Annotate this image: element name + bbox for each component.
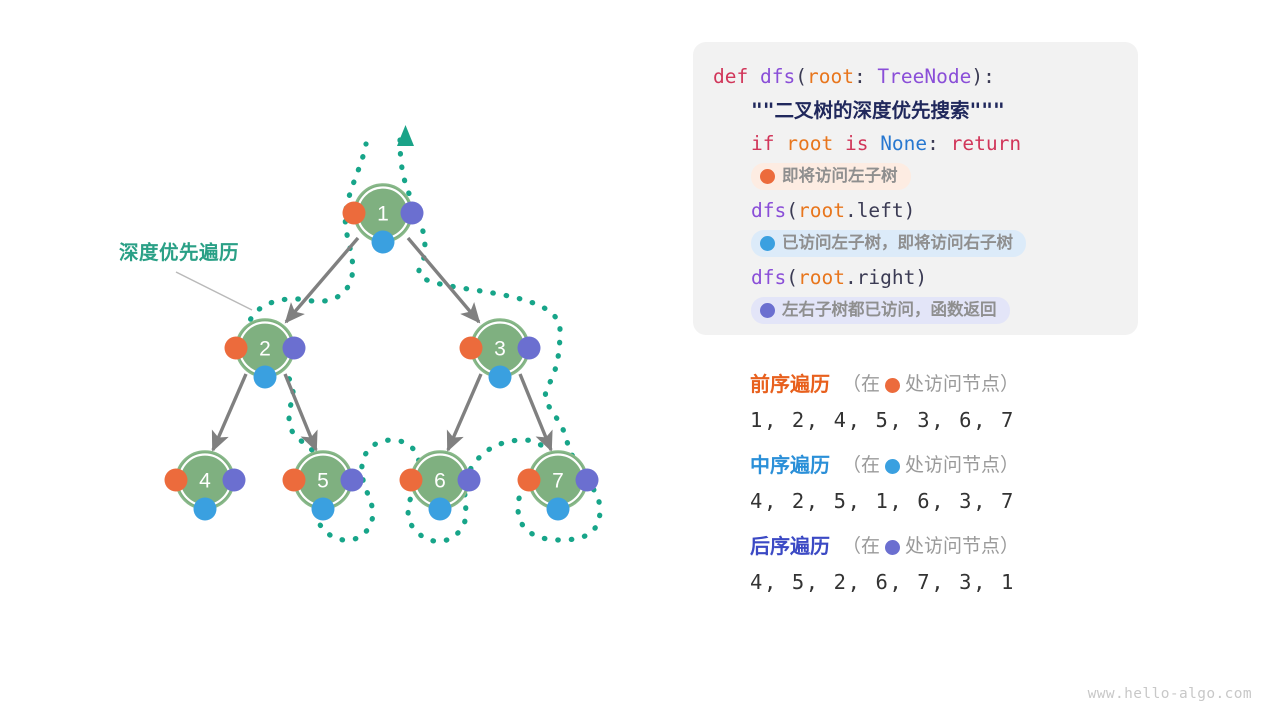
call-left-paren-open: ( xyxy=(786,199,798,222)
docstring-text: ""二叉树的深度优先搜索""" xyxy=(751,99,1005,122)
traversal-block-preorder: 前序遍历 （在 处访问节点） 1, 2, 4, 5, 3, 6, 7 xyxy=(750,368,1170,438)
keyword-def: def xyxy=(713,65,748,88)
code-block-panel: def dfs(root: TreeNode): ""二叉树的深度优先搜索"""… xyxy=(693,42,1138,335)
inorder-dot-icon xyxy=(547,498,570,521)
postorder-dot-icon xyxy=(458,469,481,492)
call-right-paren-close: ) xyxy=(915,266,927,289)
function-name: dfs xyxy=(760,65,795,88)
orange-dot-icon xyxy=(885,378,900,393)
call-right-fn: dfs xyxy=(751,266,786,289)
annotation-text: 左右子树都已访问，函数返回 xyxy=(782,299,997,321)
tree-node-layer: 1234567 xyxy=(165,184,599,521)
traversal-sequence: 4, 2, 5, 1, 6, 3, 7 xyxy=(750,483,1170,519)
traversal-name: 后序遍历 xyxy=(750,530,830,564)
note-prefix: （在 xyxy=(842,368,880,402)
traversal-name: 中序遍历 xyxy=(750,449,830,483)
code-line-annotation-in: 已访问左子树，即将访问右子树 xyxy=(713,228,1118,262)
binary-tree-svg: 1234567 xyxy=(0,0,660,720)
note-prefix: （在 xyxy=(842,449,880,483)
code-line-annotation-post: 左右子树都已访问，函数返回 xyxy=(713,295,1118,329)
code-line-annotation-pre: 即将访问左子树 xyxy=(713,161,1118,195)
traversal-heading: 后序遍历 （在 处访问节点） xyxy=(750,530,1170,564)
postorder-dot-icon xyxy=(576,469,599,492)
tree-diagram-panel: 1234567 深度优先遍历 xyxy=(0,0,660,720)
call-left-paren-close: ) xyxy=(904,199,916,222)
preorder-dot-icon xyxy=(400,469,423,492)
inorder-dot-icon xyxy=(312,498,335,521)
note-suffix: 处访问节点） xyxy=(905,530,1019,564)
traversal-note: （在 处访问节点） xyxy=(842,530,1019,564)
annotation-text: 已访问左子树，即将访问右子树 xyxy=(782,232,1013,254)
call-right-paren-open: ( xyxy=(786,266,798,289)
tree-node: 7 xyxy=(518,451,599,521)
annotation-pill-inorder: 已访问左子树，即将访问右子树 xyxy=(751,230,1026,257)
inorder-dot-icon xyxy=(429,498,452,521)
annotation-pill-preorder: 即将访问左子树 xyxy=(751,163,911,190)
note-prefix: （在 xyxy=(842,530,880,564)
inorder-dot-icon xyxy=(254,366,277,389)
tree-node: 6 xyxy=(400,451,481,521)
guard-var: root xyxy=(786,132,833,155)
up-triangle-icon xyxy=(397,125,414,146)
call-right-var: root xyxy=(798,266,845,289)
inorder-dot-icon xyxy=(372,231,395,254)
node-value: 5 xyxy=(317,470,329,493)
inorder-dot-icon xyxy=(489,366,512,389)
paren-close: ) xyxy=(971,65,983,88)
param-colon: : xyxy=(854,65,877,88)
preorder-dot-icon xyxy=(283,469,306,492)
type-treenode: TreeNode xyxy=(877,65,971,88)
call-right-attr: .right xyxy=(845,266,915,289)
orange-dot-icon xyxy=(760,169,775,184)
code-line-guard: if root is None: return xyxy=(713,127,1118,161)
postorder-dot-icon xyxy=(283,337,306,360)
keyword-if: if xyxy=(751,132,774,155)
postorder-dot-icon xyxy=(518,337,541,360)
watermark: www.hello-algo.com xyxy=(1088,686,1252,702)
postorder-dot-icon xyxy=(223,469,246,492)
code-line-docstring: ""二叉树的深度优先搜索""" xyxy=(713,94,1118,128)
traversal-note: （在 处访问节点） xyxy=(842,368,1019,402)
callout-leader-line xyxy=(176,272,252,310)
code-line-call-left: dfs(root.left) xyxy=(713,194,1118,228)
preorder-dot-icon xyxy=(460,337,483,360)
param-root: root xyxy=(807,65,854,88)
tree-node: 2 xyxy=(225,319,306,389)
tree-node: 4 xyxy=(165,451,246,521)
traversal-name: 前序遍历 xyxy=(750,368,830,402)
postorder-dot-icon xyxy=(401,202,424,225)
annotation-pill-postorder: 左右子树都已访问，函数返回 xyxy=(751,297,1010,324)
traversal-block-inorder: 中序遍历 （在 处访问节点） 4, 2, 5, 1, 6, 3, 7 xyxy=(750,449,1170,519)
inorder-dot-icon xyxy=(194,498,217,521)
traversal-heading: 前序遍历 （在 处访问节点） xyxy=(750,368,1170,402)
traversal-note: （在 处访问节点） xyxy=(842,449,1019,483)
indigo-dot-icon xyxy=(760,303,775,318)
note-suffix: 处访问节点） xyxy=(905,449,1019,483)
node-value: 4 xyxy=(199,470,211,493)
traversal-sequence: 4, 5, 2, 6, 7, 3, 1 xyxy=(750,564,1170,600)
traversal-heading: 中序遍历 （在 处访问节点） xyxy=(750,449,1170,483)
guard-colon: : xyxy=(927,132,950,155)
node-value: 7 xyxy=(552,470,564,493)
traversal-sequence: 1, 2, 4, 5, 3, 6, 7 xyxy=(750,402,1170,438)
note-suffix: 处访问节点） xyxy=(905,368,1019,402)
keyword-is: is xyxy=(845,132,868,155)
node-value: 6 xyxy=(434,470,446,493)
node-value: 3 xyxy=(494,338,506,361)
traversal-block-postorder: 后序遍历 （在 处访问节点） 4, 5, 2, 6, 7, 3, 1 xyxy=(750,530,1170,600)
annotation-text: 即将访问左子树 xyxy=(782,165,898,187)
signature-colon: : xyxy=(983,65,995,88)
tree-node: 3 xyxy=(460,319,541,389)
call-left-fn: dfs xyxy=(751,199,786,222)
blue-dot-icon xyxy=(885,459,900,474)
code-line-signature: def dfs(root: TreeNode): xyxy=(713,60,1118,94)
traversal-results: 前序遍历 （在 处访问节点） 1, 2, 4, 5, 3, 6, 7 中序遍历 … xyxy=(750,368,1170,611)
dfs-callout-label: 深度优先遍历 xyxy=(119,236,239,265)
tree-node: 5 xyxy=(283,451,364,521)
preorder-dot-icon xyxy=(343,202,366,225)
postorder-dot-icon xyxy=(341,469,364,492)
preorder-dot-icon xyxy=(225,337,248,360)
node-value: 1 xyxy=(377,203,389,226)
paren-open: ( xyxy=(795,65,807,88)
preorder-dot-icon xyxy=(518,469,541,492)
call-left-attr: .left xyxy=(845,199,904,222)
indigo-dot-icon xyxy=(885,540,900,555)
blue-dot-icon xyxy=(760,236,775,251)
code-line-call-right: dfs(root.right) xyxy=(713,261,1118,295)
preorder-dot-icon xyxy=(165,469,188,492)
keyword-return: return xyxy=(951,132,1021,155)
call-left-var: root xyxy=(798,199,845,222)
node-value: 2 xyxy=(259,338,271,361)
literal-none: None xyxy=(880,132,927,155)
